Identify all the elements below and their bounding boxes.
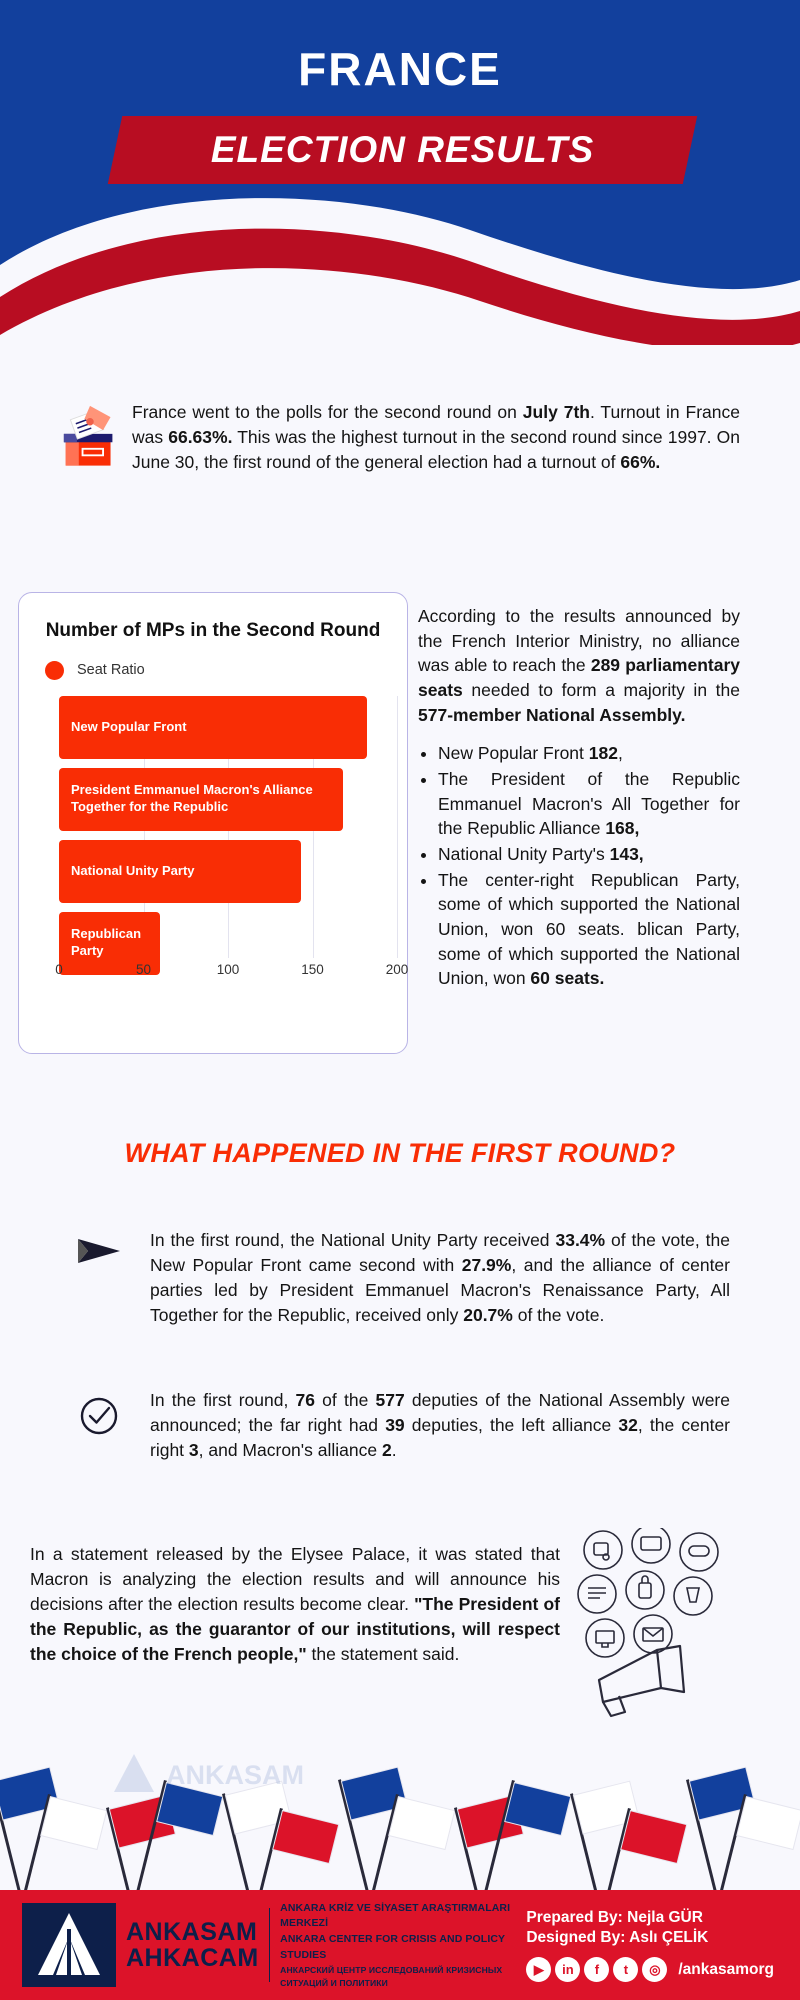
footer-subtitle-ru: АНКАРСКИЙ ЦЕНТР ИССЛЕДОВАНИЙ КРИЗИСНЫХ С… <box>280 1964 526 1990</box>
megaphone-icon <box>585 1630 695 1720</box>
statement-paragraph: In a statement released by the Elysee Pa… <box>30 1542 560 1667</box>
footer-logo-text: ANKASAM AHKACAM <box>126 1919 259 1972</box>
legend-label: Seat Ratio <box>77 662 145 678</box>
first-round-heading: WHAT HAPPENED IN THE FIRST ROUND? <box>0 1138 800 1169</box>
chart-bar-label: Republican Party <box>59 926 160 960</box>
social-links[interactable]: ▶inft◎ /ankasamorg <box>526 1957 774 1982</box>
results-paragraph: According to the results announced by th… <box>418 604 740 727</box>
results-bullet-list: New Popular Front 182,The President of t… <box>438 741 740 991</box>
footer-logo-line2: AHKACAM <box>126 1945 259 1971</box>
chart-x-tick: 50 <box>136 962 151 977</box>
chart-x-tick: 150 <box>301 962 324 977</box>
list-item: The President of the Republic Emmanuel M… <box>438 767 740 841</box>
chart-bars: New Popular FrontPresident Emmanuel Macr… <box>59 696 395 975</box>
chart-bar: National Unity Party <box>59 840 301 903</box>
chart-legend: Seat Ratio <box>45 661 407 680</box>
chart-x-axis: 050100150200 <box>59 960 395 986</box>
fact-row-first-round-deputies: In the first round, 76 of the 577 deputi… <box>70 1388 730 1463</box>
check-circle-icon <box>70 1388 128 1436</box>
fact-text-1: In the first round, the National Unity P… <box>150 1228 730 1327</box>
arrow-pointer-icon <box>70 1228 128 1266</box>
footer-subtitles: ANKARA KRİZ VE SİYASET ARAŞTIRMALARI MER… <box>280 1901 526 1990</box>
chart-bar-label: President Emmanuel Macron's Alliance Tog… <box>59 782 343 816</box>
list-item: New Popular Front 182, <box>438 741 740 766</box>
list-item: National Unity Party's 143, <box>438 842 740 867</box>
chart-card: Number of MPs in the Second Round Seat R… <box>18 592 408 1054</box>
ankasam-logo-icon <box>22 1903 116 1987</box>
chart-bar-label: National Unity Party <box>59 863 201 880</box>
list-item: The center-right Republican Party, some … <box>438 868 740 991</box>
chart-x-tick: 0 <box>55 962 63 977</box>
chart-bar-row: New Popular Front <box>59 696 395 759</box>
twitter-icon[interactable]: t <box>613 1957 638 1982</box>
chart-title: Number of MPs in the Second Round <box>45 619 381 643</box>
footer-logo-line1: ANKASAM <box>126 1919 259 1945</box>
ballot-box-icon <box>62 404 118 469</box>
footer-subtitle-en: ANKARA CENTER FOR CRISIS AND POLICY STUD… <box>280 1932 526 1964</box>
youtube-icon[interactable]: ▶ <box>526 1957 551 1982</box>
instagram-icon[interactable]: ◎ <box>642 1957 667 1982</box>
svg-text:ANKASAM: ANKASAM <box>166 1760 304 1790</box>
chart-bar-row: National Unity Party <box>59 840 395 903</box>
intro-paragraph: France went to the polls for the second … <box>132 400 740 475</box>
chart-bar-row: President Emmanuel Macron's Alliance Tog… <box>59 768 395 831</box>
fact-row-first-round-votes: In the first round, the National Unity P… <box>70 1228 730 1327</box>
footer-credits: Prepared By: Nejla GÜR Designed By: Aslı… <box>526 1908 774 1983</box>
title-ribbon-label: ELECTION RESULTS <box>115 116 690 184</box>
header-banner: FRANCE ELECTION RESULTS <box>0 0 800 345</box>
fact-text-2: In the first round, 76 of the 577 deputi… <box>150 1388 730 1463</box>
chart-bar: New Popular Front <box>59 696 367 759</box>
infographic-page: FRANCE ELECTION RESULTS France went t <box>0 0 800 2000</box>
results-summary-block: According to the results announced by th… <box>418 604 740 992</box>
chart-x-tick: 200 <box>386 962 409 977</box>
chart-bar: President Emmanuel Macron's Alliance Tog… <box>59 768 343 831</box>
prepared-by-label: Prepared By: Nejla GÜR <box>526 1908 774 1928</box>
footer-subtitle-tr: ANKARA KRİZ VE SİYASET ARAŞTIRMALARI MER… <box>280 1901 526 1933</box>
footer-bar: ANKASAM AHKACAM ANKARA KRİZ VE SİYASET A… <box>0 1890 800 2000</box>
linkedin-icon[interactable]: in <box>555 1957 580 1982</box>
social-handle: /ankasamorg <box>678 1960 774 1980</box>
intro-block: France went to the polls for the second … <box>62 400 740 475</box>
footer-divider <box>269 1908 270 1982</box>
legend-color-swatch-icon <box>45 661 64 680</box>
chart-gridline <box>397 696 398 958</box>
watermark-logo-icon: ANKASAM <box>110 1748 410 1798</box>
facebook-icon[interactable]: f <box>584 1957 609 1982</box>
page-title: FRANCE <box>0 42 800 96</box>
chart-plot-area: New Popular FrontPresident Emmanuel Macr… <box>59 696 395 986</box>
designed-by-label: Designed By: Aslı ÇELİK <box>526 1928 774 1948</box>
chart-bar-label: New Popular Front <box>59 719 193 736</box>
chart-x-tick: 100 <box>217 962 240 977</box>
wave-decoration-icon <box>0 185 800 345</box>
